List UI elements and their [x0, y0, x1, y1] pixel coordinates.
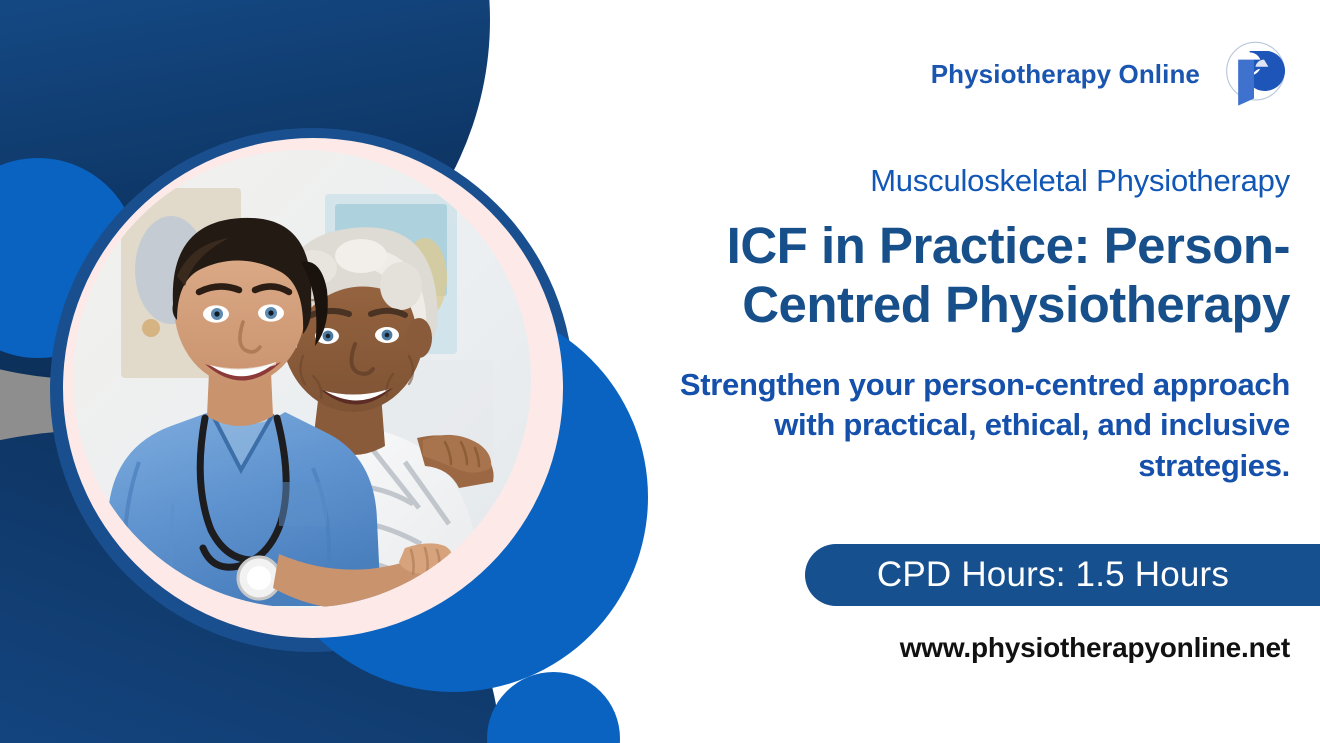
brand-lockup: Physiotherapy Online [931, 38, 1290, 110]
cpd-hours-badge: CPD Hours: 1.5 Hours [805, 544, 1320, 606]
website-url[interactable]: www.physiotherapyonline.net [610, 632, 1290, 664]
physiotherapy-p-circle-logo-icon [1218, 38, 1290, 110]
course-tagline: Strengthen your person-centred approach … [630, 365, 1290, 486]
course-title: ICF in Practice: Person- Centred Physiot… [610, 216, 1290, 334]
course-title-line-2: Centred Physiotherapy [742, 276, 1290, 333]
course-category: Musculoskeletal Physiotherapy [610, 163, 1290, 199]
hero-photo [73, 150, 531, 608]
course-promo-banner: Physiotherapy Online Musculoskeletal Phy… [0, 0, 1320, 743]
brand-name: Physiotherapy Online [931, 59, 1200, 90]
cpd-hours-badge-text: CPD Hours: 1.5 Hours [877, 555, 1229, 595]
course-title-line-1: ICF in Practice: Person- [727, 217, 1290, 274]
